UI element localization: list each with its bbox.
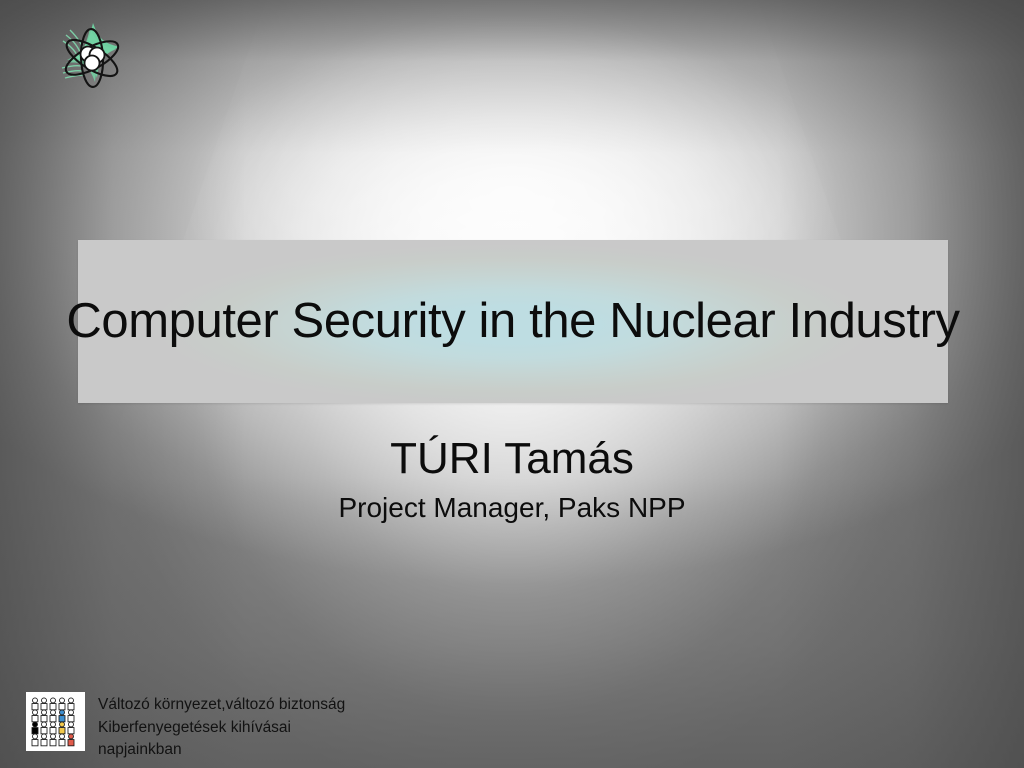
footer-line: Változó környezet,változó biztonság [98,694,345,717]
footer: Változó környezet,változó biztonság Kibe… [26,692,345,762]
footer-text-block: Változó környezet,változó biztonság Kibe… [98,694,345,762]
presenter-name: TÚRI Tamás [0,437,1024,482]
footer-line: napjainkban [98,739,345,762]
people-puzzle-icon [26,692,85,751]
presenter-role: Project Manager, Paks NPP [0,494,1024,522]
atom-icon [50,16,134,100]
page-title: Computer Security in the Nuclear Industr… [56,297,969,346]
slide-title-box: Computer Security in the Nuclear Industr… [78,240,948,403]
presenter-block: TÚRI Tamás Project Manager, Paks NPP [0,437,1024,522]
footer-line: Kiberfenyegetések kihívásai [98,717,345,740]
presentation-slide: Computer Security in the Nuclear Industr… [0,0,1024,768]
